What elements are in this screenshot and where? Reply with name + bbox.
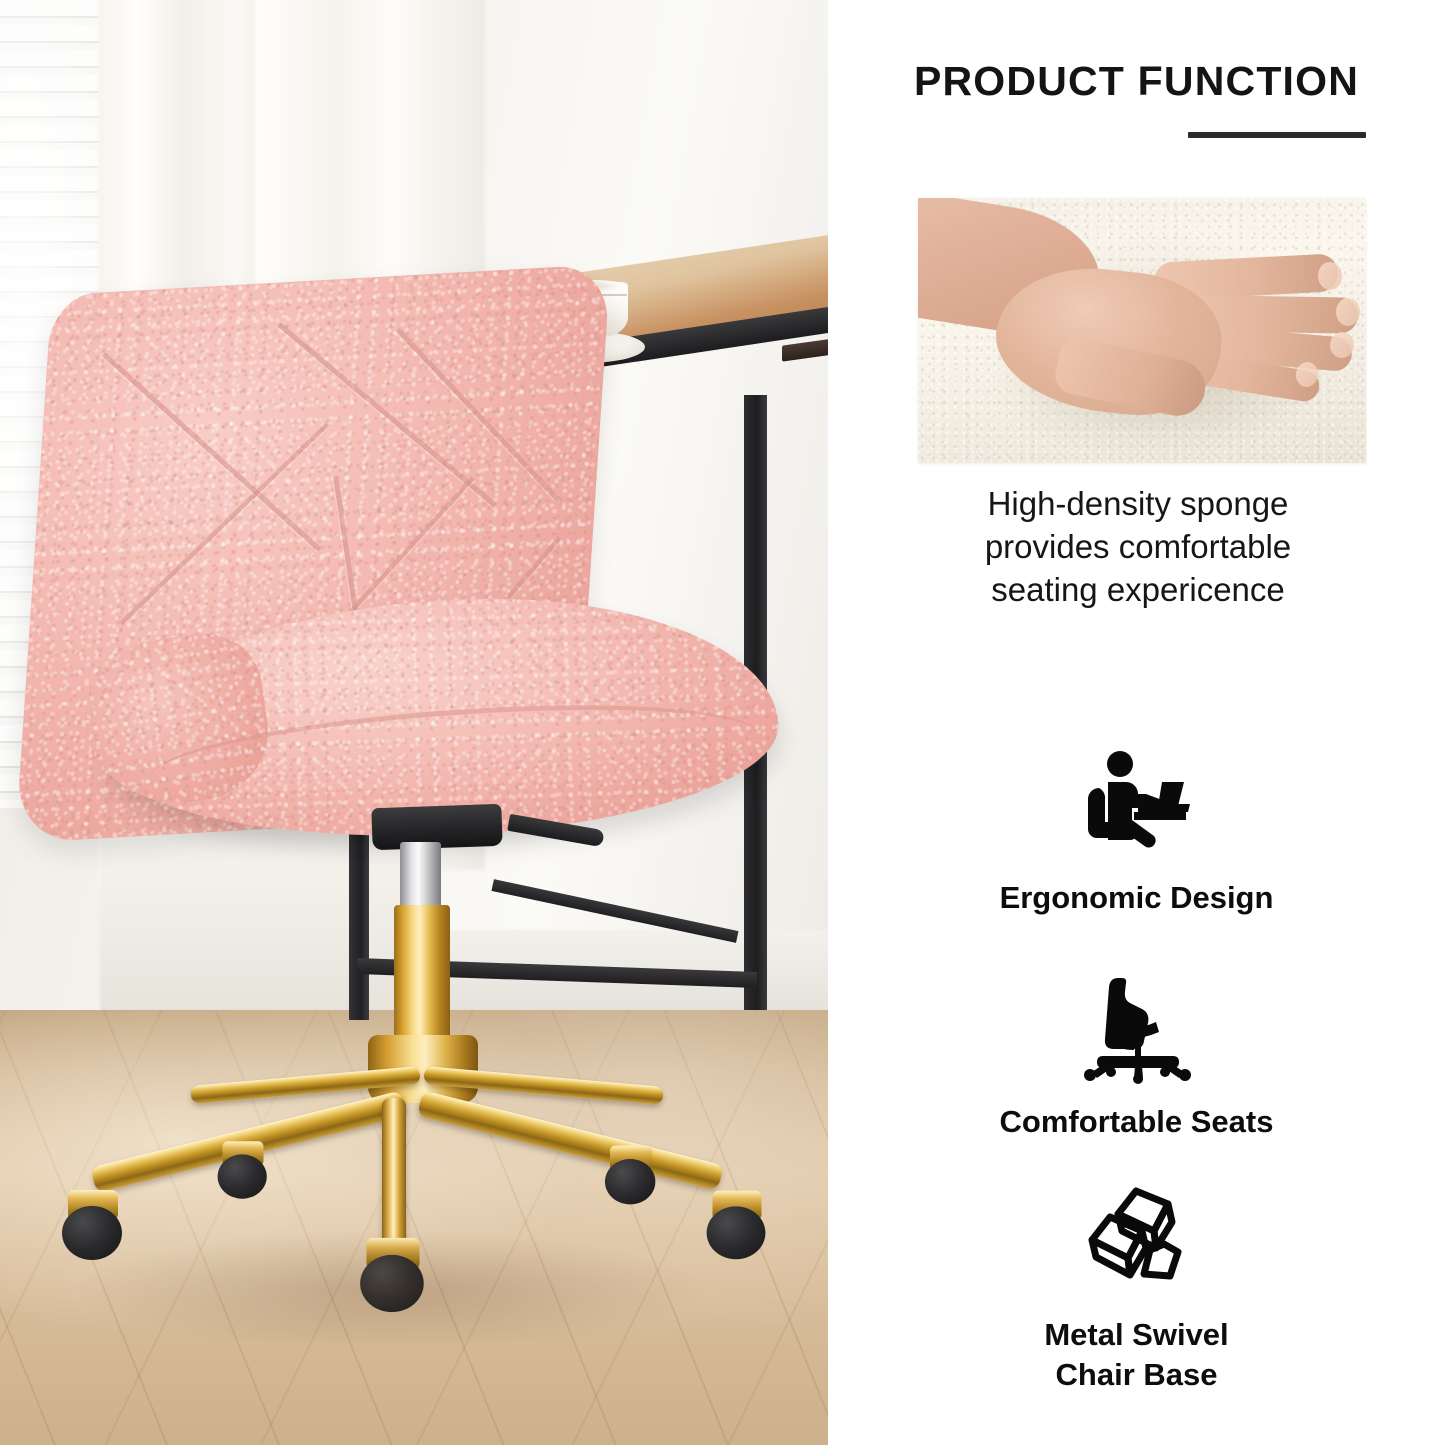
feature-label-line: Metal Swivel	[828, 1315, 1445, 1355]
caster-tire	[605, 1159, 655, 1204]
caster-wheel	[605, 1146, 657, 1205]
quilt-stitch	[396, 328, 561, 503]
office-chair-icon	[1077, 972, 1197, 1084]
fingernail	[1336, 298, 1360, 326]
feature-metal-swivel-base: Metal Swivel Chair Base	[828, 1182, 1445, 1395]
metal-ingots-icon	[1072, 1182, 1202, 1297]
feature-label-line: Comfortable Seats	[828, 1102, 1445, 1142]
feature-ergonomic-design: Ergonomic Design	[828, 750, 1445, 918]
hero-product-photo: ℛ	[0, 0, 828, 1445]
feature-label-line: Chair Base	[828, 1355, 1445, 1395]
quilt-stitch	[277, 322, 497, 507]
feature-column: PRODUCT FUNCTION High-density sponge pro…	[828, 0, 1445, 1445]
caster-wheel	[218, 1141, 269, 1198]
quilt-stitch	[102, 352, 322, 552]
foam-caption-line-2: provides comfortable	[868, 525, 1408, 568]
feature-label-line: Ergonomic Design	[828, 878, 1445, 918]
caster-tire	[707, 1206, 766, 1259]
feature-label: Metal Swivel Chair Base	[828, 1315, 1445, 1395]
chair-floor-shadow	[70, 1230, 710, 1350]
quilt-stitch	[119, 423, 329, 626]
foam-caption: High-density sponge provides comfortable…	[868, 482, 1408, 611]
feature-label: Ergonomic Design	[828, 878, 1445, 918]
caster-tire	[218, 1154, 267, 1198]
foam-caption-line-3: seating expericence	[868, 568, 1408, 611]
gold-cylinder-sleeve	[394, 905, 450, 1045]
feature-label: Comfortable Seats	[828, 1102, 1445, 1142]
page-title: PRODUCT FUNCTION	[828, 58, 1445, 105]
memory-foam-photo	[918, 198, 1366, 463]
title-underline-rule	[1188, 132, 1366, 138]
person-at-desk-icon	[1072, 750, 1202, 860]
foam-caption-line-1: High-density sponge	[868, 482, 1408, 525]
caster-wheel	[707, 1191, 768, 1260]
infographic-page: ℛ	[0, 0, 1445, 1445]
feature-comfortable-seats: Comfortable Seats	[828, 972, 1445, 1142]
